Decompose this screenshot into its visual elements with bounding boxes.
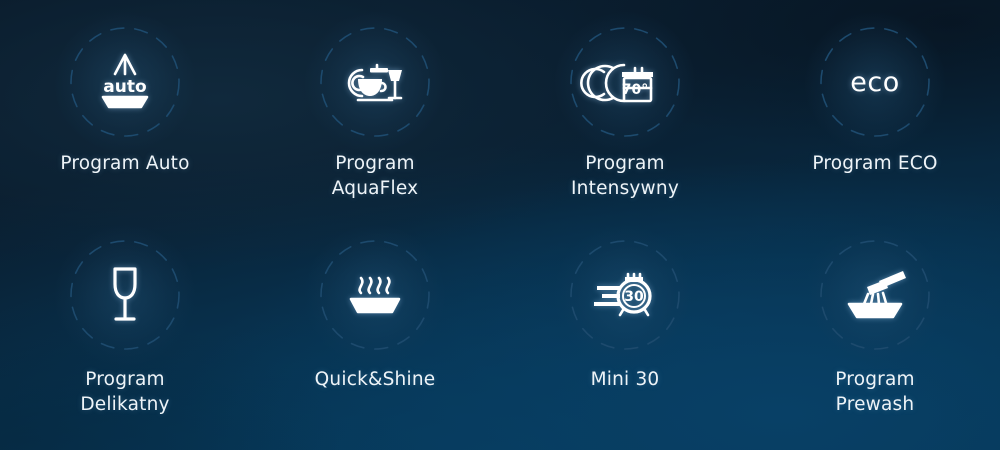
program-item-prewash[interactable]: ProgramPrewash (750, 225, 1000, 450)
prewash-brush-dish-icon (840, 260, 910, 330)
program-item-quickshine[interactable]: Quick&Shine (250, 225, 500, 450)
program-badge-prewash[interactable] (819, 239, 931, 351)
program-label-mini30: Mini 30 (591, 367, 660, 392)
eco-icon-text: eco (850, 67, 899, 98)
program-badge-quickshine[interactable] (319, 239, 431, 351)
program-item-intensywny[interactable]: 70° ProgramIntensywny (500, 0, 750, 225)
intensive-temperature-text: 70° (622, 82, 648, 98)
program-item-auto[interactable]: auto Program Auto (0, 0, 250, 225)
program-item-aquaflex[interactable]: ProgramAquaFlex (250, 0, 500, 225)
steaming-dish-icon (340, 260, 410, 330)
program-badge-mini30[interactable]: 30 (569, 239, 681, 351)
stopwatch-minutes-text: 30 (624, 289, 644, 305)
program-label-quickshine: Quick&Shine (315, 367, 436, 392)
program-grid: auto Program Auto (0, 0, 1000, 450)
eco-program-icon: eco (840, 47, 910, 117)
program-label-delikatny: ProgramDelikatny (80, 367, 169, 417)
program-item-eco[interactable]: eco Program ECO (750, 0, 1000, 225)
program-badge-aquaflex[interactable] (319, 26, 431, 138)
aquaflex-dishes-glass-icon (340, 47, 410, 117)
program-label-eco: Program ECO (812, 151, 937, 176)
program-badge-delikatny[interactable] (69, 239, 181, 351)
program-item-mini30[interactable]: 30 Mini 30 (500, 225, 750, 450)
auto-program-icon: auto (90, 47, 160, 117)
program-item-delikatny[interactable]: ProgramDelikatny (0, 225, 250, 450)
program-badge-intensywny[interactable]: 70° (569, 26, 681, 138)
stopwatch-30-speed-lines-icon: 30 (590, 260, 660, 330)
program-label-auto: Program Auto (60, 151, 189, 176)
program-label-intensywny: ProgramIntensywny (571, 151, 679, 201)
program-label-aquaflex: ProgramAquaFlex (332, 151, 419, 201)
program-label-prewash: ProgramPrewash (835, 367, 914, 417)
auto-icon-text: auto (103, 77, 146, 97)
wine-glass-icon (90, 260, 160, 330)
program-badge-auto[interactable]: auto (69, 26, 181, 138)
program-badge-eco[interactable]: eco (819, 26, 931, 138)
intensive-pot-70-degrees-icon: 70° (590, 47, 660, 117)
